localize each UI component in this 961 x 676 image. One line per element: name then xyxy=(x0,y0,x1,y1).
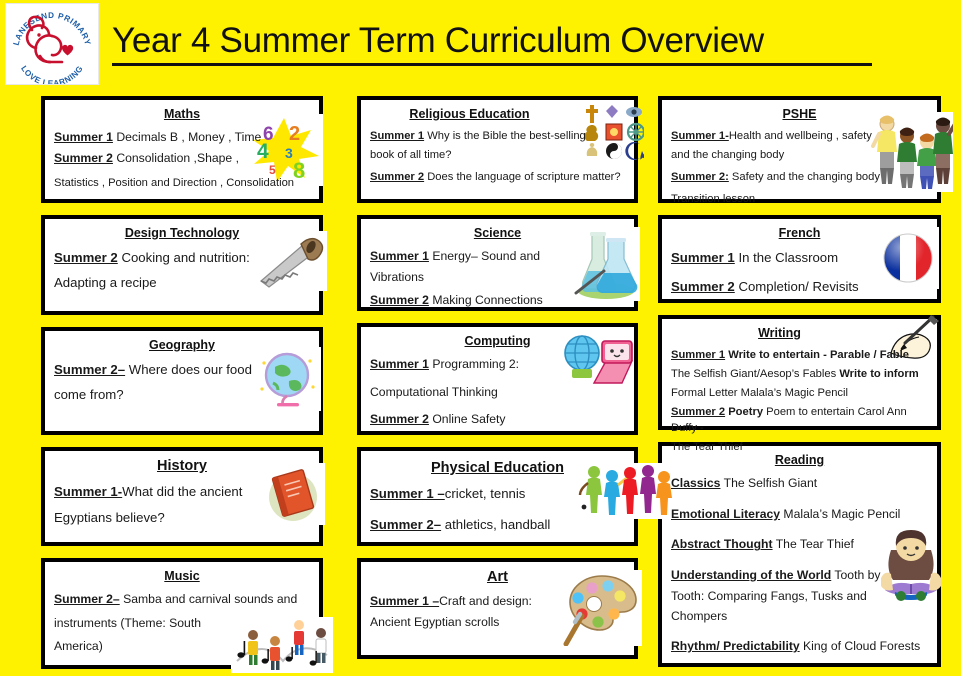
card-line: Summer 1 Write to entertain - Parable / … xyxy=(671,348,928,364)
line-text: Programming 2: xyxy=(429,357,519,371)
card-pshe: PSHE xyxy=(658,96,941,203)
card-line: Tooth: Comparing Fangs, Tusks and xyxy=(671,588,928,606)
line-text: Egyptians believe? xyxy=(54,510,165,525)
line-text: Formal Letter Malala’s Magic Pencil xyxy=(671,387,848,399)
line-bold: Poetry xyxy=(728,406,766,418)
line-bold: Write to inform xyxy=(839,368,918,380)
line-text: Making Connections xyxy=(429,293,543,307)
card-line: Classics The Selfish Giant xyxy=(671,475,928,493)
column-3: PSHE xyxy=(658,96,941,676)
line-text: Decimals B , Money , Time xyxy=(113,130,261,144)
card-line: Abstract Thought The Tear Thief xyxy=(671,536,928,554)
card-line: Summer 2– Samba and carnival sounds and xyxy=(54,591,310,609)
line-label: Summer 2 xyxy=(370,171,424,183)
card-line: Chompers xyxy=(671,608,928,626)
svg-text:LANESEND PRIMARY: LANESEND PRIMARY xyxy=(12,11,93,46)
line-label: Summer 1 – xyxy=(370,594,439,608)
line-label: Summer 2 xyxy=(54,250,118,265)
line-text: What did the ancient xyxy=(122,484,242,499)
logo-artwork: LANESEND PRIMARY LOVE LEARNING xyxy=(6,4,98,84)
column-2: Religious Education xyxy=(357,96,638,671)
card-french: French xyxy=(658,215,941,303)
card-title-french: French xyxy=(671,226,928,241)
card-line: Summer 2 Online Safety xyxy=(370,411,625,429)
line-label: Summer 2– xyxy=(370,517,441,532)
line-text: Malala’s Magic Pencil xyxy=(780,507,900,521)
card-title-science: Science xyxy=(370,226,625,241)
line-label: Summer 2: xyxy=(671,171,729,183)
card-line: Summer 2– Where does our food xyxy=(54,360,310,379)
line-label: Summer 2 xyxy=(671,406,725,418)
card-line: Summer 2: Safety and the changing body xyxy=(671,170,928,186)
line-label: Summer 1 – xyxy=(370,486,445,501)
svg-text:LOVE LEARNING: LOVE LEARNING xyxy=(19,64,85,84)
lanesend-primary-logo: LANESEND PRIMARY LOVE LEARNING xyxy=(5,3,99,85)
line-text: Energy– Sound and xyxy=(429,249,540,263)
card-geography: Geography Summer 2– Where does our food … xyxy=(41,327,323,435)
card-history: History Summer 1-What did the ancient Eg… xyxy=(41,447,323,546)
line-text: Tooth by xyxy=(831,568,880,582)
line-text: book of all time? xyxy=(370,149,451,161)
card-line: Emotional Literacy Malala’s Magic Pencil xyxy=(671,506,928,524)
line-label: Summer 1 xyxy=(54,130,113,144)
card-title-physical-education: Physical Education xyxy=(370,460,625,477)
card-computing: Computing Summer 1 Programming 2: Comput… xyxy=(357,323,638,435)
card-line: Summer 2 Consolidation ,Shape , xyxy=(54,150,310,168)
line-text: Online Safety xyxy=(429,412,506,426)
line-text: Consolidation ,Shape , xyxy=(113,151,239,165)
card-religious-education: Religious Education xyxy=(357,96,638,203)
card-line: Formal Letter Malala’s Magic Pencil xyxy=(671,386,928,402)
line-text: The Selfish Giant/Aesop’s Fables xyxy=(671,368,839,380)
line-text: Where does our food xyxy=(125,362,252,377)
card-line: book of all time? xyxy=(370,148,625,164)
card-title-music: Music xyxy=(54,569,310,584)
line-label: Summer 2 xyxy=(370,293,429,307)
card-title-computing: Computing xyxy=(370,334,625,349)
card-line: Adapting a recipe xyxy=(54,273,310,292)
card-reading: Reading Classics The Selfish Giant xyxy=(658,442,941,667)
line-label: Understanding of the World xyxy=(671,568,831,582)
card-line: come from? xyxy=(54,385,310,404)
page-title: Year 4 Summer Term Curriculum Overview xyxy=(112,20,872,66)
line-label: Summer 1- xyxy=(54,484,122,499)
line-text: Cooking and nutrition: xyxy=(118,250,250,265)
line-label: Summer 1 xyxy=(370,357,429,371)
card-design-technology: Design Technology Summer 2 Cooking and n… xyxy=(41,215,323,315)
card-writing: Writing Summer 1 Write to entertain - Pa… xyxy=(658,315,941,430)
card-line: Summer 1 Decimals B , Money , Time xyxy=(54,129,310,147)
card-title-religious-education: Religious Education xyxy=(370,107,569,122)
line-text: instruments (Theme: South xyxy=(54,616,201,630)
card-line: Summer 2 Completion/ Revisits xyxy=(671,277,928,296)
card-line: Summer 1-What did the ancient xyxy=(54,482,310,501)
line-label: Summer 1 xyxy=(370,249,429,263)
line-label: Summer 1 xyxy=(671,250,735,265)
card-music: Music xyxy=(41,558,323,669)
card-line: Summer 1 In the Classroom xyxy=(671,248,928,267)
card-title-writing: Writing xyxy=(671,326,888,341)
card-title-design-technology: Design Technology xyxy=(54,226,310,241)
line-text: Ancient Egyptian scrolls xyxy=(370,615,499,629)
card-line: Summer 1 Energy– Sound and xyxy=(370,248,625,266)
line-text: Vibrations xyxy=(370,270,424,284)
line-text: In the Classroom xyxy=(735,250,838,265)
card-line: Rhythm/ Predictability King of Cloud For… xyxy=(671,638,928,656)
line-text: Transition lesson xyxy=(671,193,755,205)
line-label: Rhythm/ Predictability xyxy=(671,639,800,653)
line-bold: Write to entertain - Parable / Fable xyxy=(728,349,909,361)
line-text: Safety and the changing body xyxy=(729,171,880,183)
line-text: Does the language of scripture matter? xyxy=(424,171,621,183)
line-text: come from? xyxy=(54,387,124,402)
card-line: Statistics , Position and Direction , Co… xyxy=(54,176,310,192)
line-text: The Selfish Giant xyxy=(720,476,817,490)
card-line: Summer 1 Programming 2: xyxy=(370,356,625,374)
line-text: Adapting a recipe xyxy=(54,275,157,290)
card-line: The Tear Thief xyxy=(671,440,928,456)
card-title-pshe: PSHE xyxy=(671,107,928,122)
card-title-history: History xyxy=(54,458,310,475)
line-text: athletics, handball xyxy=(441,517,550,532)
line-text: Statistics , Position and Direction , Co… xyxy=(54,177,294,189)
line-text: The Tear Thief xyxy=(773,537,854,551)
page-header: LANESEND PRIMARY LOVE LEARNING Year xyxy=(0,0,961,92)
card-line: Summer 1 –cricket, tennis xyxy=(370,484,625,503)
card-line: Summer 1 Why is the Bible the best-selli… xyxy=(370,129,625,145)
line-text: America) xyxy=(54,639,103,653)
card-line: Computational Thinking xyxy=(370,384,625,402)
line-text: cricket, tennis xyxy=(445,486,526,501)
card-line: instruments (Theme: South xyxy=(54,615,310,633)
line-text: Samba and carnival sounds and xyxy=(120,592,298,606)
line-label: Summer 1- xyxy=(671,130,729,142)
line-text: Craft and design: xyxy=(439,594,532,608)
line-label: Summer 2– xyxy=(54,362,125,377)
line-text: Completion/ Revisits xyxy=(735,279,859,294)
card-line: Ancient Egyptian scrolls xyxy=(370,614,625,632)
card-line: Summer 2 Does the language of scripture … xyxy=(370,170,625,186)
line-text: The Tear Thief xyxy=(671,441,743,453)
card-line: Summer 1-Health and wellbeing , safety xyxy=(671,129,928,145)
line-label: Abstract Thought xyxy=(671,537,773,551)
line-label: Classics xyxy=(671,476,720,490)
line-label: Emotional Literacy xyxy=(671,507,780,521)
line-label: Summer 2 xyxy=(54,151,113,165)
card-title-geography: Geography xyxy=(54,338,310,353)
card-science: Science Summer 1 Energy– Sound and Vibra… xyxy=(357,215,638,311)
card-line: Summer 2 Poetry Poem to entertain Carol … xyxy=(671,405,928,437)
card-line: Summer 2– athletics, handball xyxy=(370,515,625,534)
column-1: Maths 6 2 4 3 8 5 Summer 1 Decimals B , … xyxy=(41,96,323,676)
line-label: Summer 1 xyxy=(370,130,424,142)
card-line: Vibrations xyxy=(370,269,625,287)
card-title-art: Art xyxy=(370,569,625,586)
line-label: Summer 2 xyxy=(370,412,429,426)
card-line: Summer 2 Making Connections xyxy=(370,292,625,310)
line-label: Summer 2– xyxy=(54,592,120,606)
line-text: King of Cloud Forests xyxy=(800,639,921,653)
card-line: The Selfish Giant/Aesop’s Fables Write t… xyxy=(671,367,928,383)
line-text: and the changing body xyxy=(671,149,784,161)
card-line: and the changing body xyxy=(671,148,928,164)
card-physical-education: Physical Education xyxy=(357,447,638,546)
card-line: America) xyxy=(54,638,310,656)
card-line: Understanding of the World Tooth by xyxy=(671,567,928,585)
line-label: Summer 2 xyxy=(671,279,735,294)
card-line: Summer 1 –Craft and design: xyxy=(370,593,625,611)
card-line: Summer 2 Cooking and nutrition: xyxy=(54,248,310,267)
line-text: Why is the Bible the best-selling xyxy=(424,130,586,142)
card-line: Egyptians believe? xyxy=(54,508,310,527)
card-maths: Maths 6 2 4 3 8 5 Summer 1 Decimals B , … xyxy=(41,96,323,203)
card-line: Transition lesson xyxy=(671,192,928,208)
card-art: Art Summer 1 –Craft and design: Anc xyxy=(357,558,638,659)
line-text: Computational Thinking xyxy=(370,385,498,399)
line-text: Chompers xyxy=(671,609,727,623)
line-text: Health and wellbeing , safety xyxy=(729,130,872,142)
card-title-maths: Maths xyxy=(54,107,310,122)
line-text: Tooth: Comparing Fangs, Tusks and xyxy=(671,589,867,603)
curriculum-overview-page: LANESEND PRIMARY LOVE LEARNING Year xyxy=(0,0,961,676)
line-label: Summer 1 xyxy=(671,349,725,361)
